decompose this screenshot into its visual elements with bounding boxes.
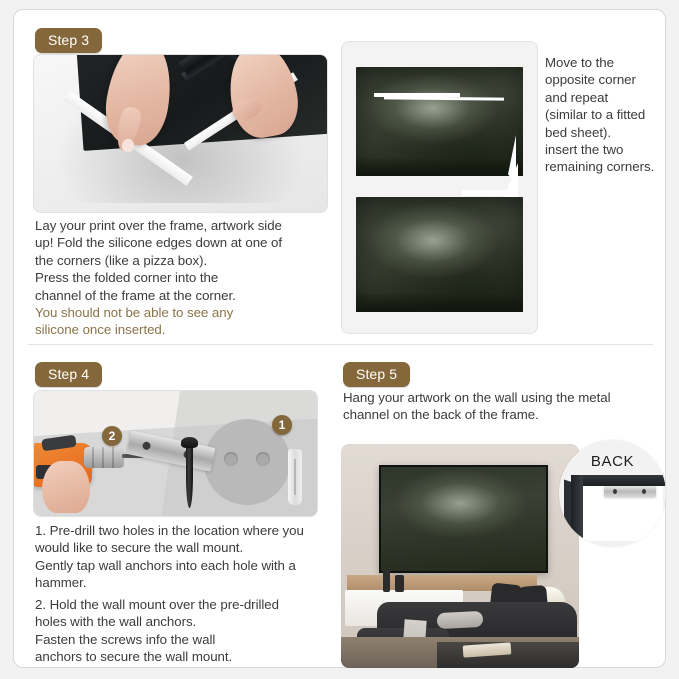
step-4-illustration-wall-mount: 2 1 [33, 390, 318, 517]
step-3-warning-note: You should not be able to see any silico… [35, 304, 335, 339]
metal-hanging-channel [604, 486, 656, 497]
chuck-ridge [102, 447, 104, 468]
step-4-badge: Step 4 [35, 362, 102, 387]
chuck-ridge [92, 447, 94, 468]
step-3-badge: Step 3 [35, 28, 102, 53]
step-5-badge: Step 5 [343, 362, 410, 387]
step-5-instructions: Hang your artwork on the wall using the … [343, 389, 663, 424]
back-of-frame-callout: BACK [559, 440, 666, 547]
sofa-pillow [437, 611, 484, 629]
step-3-instructions: Lay your print over the frame, artwork s… [35, 217, 335, 304]
screw [186, 444, 193, 508]
channel-screw-right [642, 489, 646, 494]
step-3-photo-hands-folding-silicone [33, 54, 328, 213]
screw-head [181, 437, 198, 448]
drill-hole-left [224, 452, 238, 466]
step-4-instructions-part-2: 2. Hold the wall mount over the pre-dril… [35, 596, 335, 666]
instruction-card: Step 3 Lay your print over the frame, ar… [13, 9, 666, 668]
hung-artwork-image [381, 467, 546, 571]
silicone-flap-bottom [462, 190, 518, 196]
back-label: BACK [559, 453, 666, 470]
callout-number-1: 1 [272, 415, 292, 435]
drill-hole-right [256, 452, 270, 466]
drill-chuck [84, 447, 124, 468]
section-divider [28, 344, 653, 345]
decor-vase-short [395, 575, 404, 592]
frame-back-left-edge [571, 475, 583, 543]
artwork-ground [356, 294, 523, 312]
chuck-ridge [112, 447, 114, 468]
hand-holding-drill [42, 461, 90, 513]
decor-vase-tall [383, 570, 390, 592]
step-3-artwork-panel [341, 41, 538, 334]
hung-artwork-frame [379, 465, 548, 573]
frame-back-top-edge [571, 475, 665, 486]
channel-screw-left [613, 489, 617, 494]
bracket-hole-left [142, 441, 151, 450]
silicone-flap-top [384, 96, 504, 100]
step-4-instructions-part-1: 1. Pre-drill two holes in the location w… [35, 522, 335, 592]
artwork-image-with-silicone-flaps [356, 67, 523, 176]
step-3-side-note: Move to the opposite corner and repeat (… [545, 54, 665, 176]
anchor-slit [294, 459, 296, 495]
artwork-image-finished [356, 197, 523, 312]
callout-number-2: 2 [102, 426, 122, 446]
step-5-photo-hung-artwork-in-room [341, 444, 579, 668]
artwork-ground [356, 159, 523, 176]
wall-anchor [288, 449, 302, 505]
